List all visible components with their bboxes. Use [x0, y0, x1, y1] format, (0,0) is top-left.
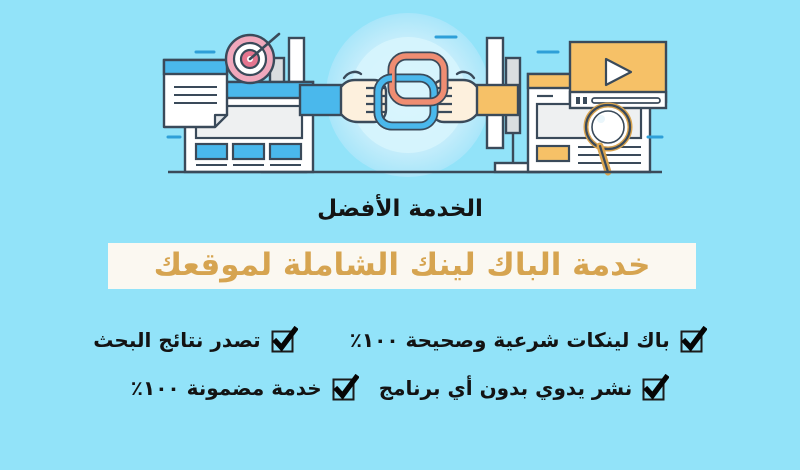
feature-item: نشر يدوي بدون أي برنامج — [379, 374, 670, 402]
ballot-box-check-icon — [270, 326, 298, 354]
ballot-box-check-icon — [679, 326, 707, 354]
ballot-box-check-icon — [641, 374, 669, 402]
headline-band: خدمة الباك لينك الشاملة لموقعك — [108, 243, 696, 289]
document-card — [164, 60, 227, 127]
feature-label: نشر يدوي بدون أي برنامج — [379, 375, 633, 401]
feature-item: خدمة مضمونة ١٠٠٪ — [131, 374, 359, 402]
feature-row: باك لينكات شرعية وصحيحة ١٠٠٪ تصدر نتائج … — [0, 316, 800, 364]
feature-label: خدمة مضمونة ١٠٠٪ — [131, 375, 322, 401]
feature-label: تصدر نتائج البحث — [93, 327, 260, 353]
video-player-card — [570, 42, 666, 108]
ballot-box-check-icon — [331, 374, 359, 402]
feature-item: تصدر نتائج البحث — [93, 326, 297, 354]
feature-list: باك لينكات شرعية وصحيحة ١٠٠٪ تصدر نتائج … — [0, 316, 800, 412]
page-title: خدمة الباك لينك الشاملة لموقعك — [154, 245, 651, 287]
subtitle: الخدمة الأفضل — [0, 194, 800, 224]
hero-illustration — [0, 0, 800, 185]
feature-row: نشر يدوي بدون أي برنامج خدمة مضمونة ١٠٠٪ — [0, 364, 800, 412]
feature-item: باك لينكات شرعية وصحيحة ١٠٠٪ — [350, 326, 707, 354]
illustration-canvas — [0, 0, 800, 185]
feature-label: باك لينكات شرعية وصحيحة ١٠٠٪ — [350, 327, 670, 353]
